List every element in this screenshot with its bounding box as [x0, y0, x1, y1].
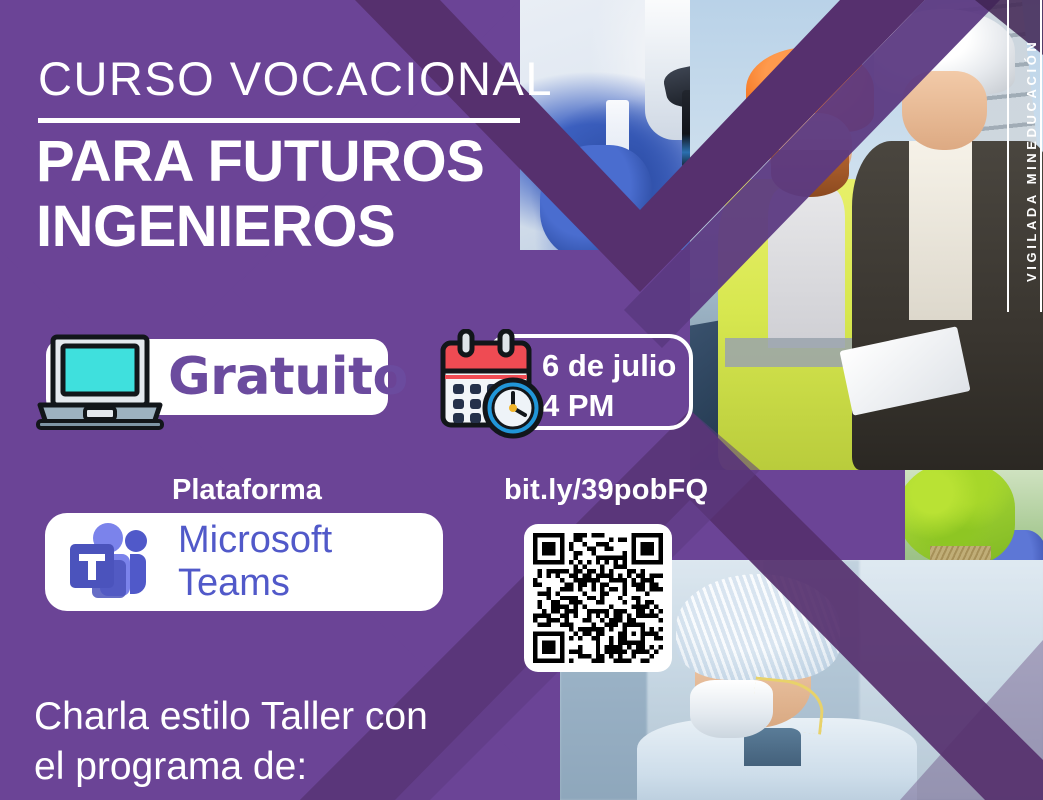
footer-note: Charla estilo Taller con el programa de: [34, 692, 428, 792]
free-badge-label: Gratuito [168, 342, 388, 412]
poster-content: CURSO VOCACIONAL PARA FUTUROS INGENIEROS… [0, 0, 1043, 800]
platform-name: Microsoft Teams [178, 520, 448, 604]
schedule-date: 6 de julio [542, 346, 676, 386]
schedule-badge-text: 6 de julio 4 PM [542, 346, 676, 425]
poster-canvas: CURSO VOCACIONAL PARA FUTUROS INGENIEROS… [0, 0, 1043, 800]
title-divider-rule [38, 118, 520, 123]
kicker-text: CURSO VOCACIONAL [38, 55, 553, 102]
platform-label: Plataforma [172, 474, 322, 507]
registration-url[interactable]: bit.ly/39pobFQ [504, 474, 708, 507]
calendar-clock-icon [437, 329, 551, 441]
accreditation-rule-right [1040, 0, 1042, 312]
accreditation-text: VIGILADA MINEDUCACIÓN [1013, 10, 1039, 310]
accreditation-rule-left [1007, 0, 1009, 312]
headline-line-2: INGENIEROS [36, 195, 484, 260]
qr-code[interactable] [524, 524, 672, 672]
laptop-icon [36, 331, 164, 431]
microsoft-teams-icon [62, 520, 158, 604]
page-title: PARA FUTUROS INGENIEROS [36, 130, 484, 260]
headline-line-1: PARA FUTUROS [36, 130, 484, 195]
footer-line-1: Charla estilo Taller con [34, 692, 428, 742]
schedule-time: 4 PM [542, 386, 676, 426]
footer-line-2: el programa de: [34, 742, 428, 792]
